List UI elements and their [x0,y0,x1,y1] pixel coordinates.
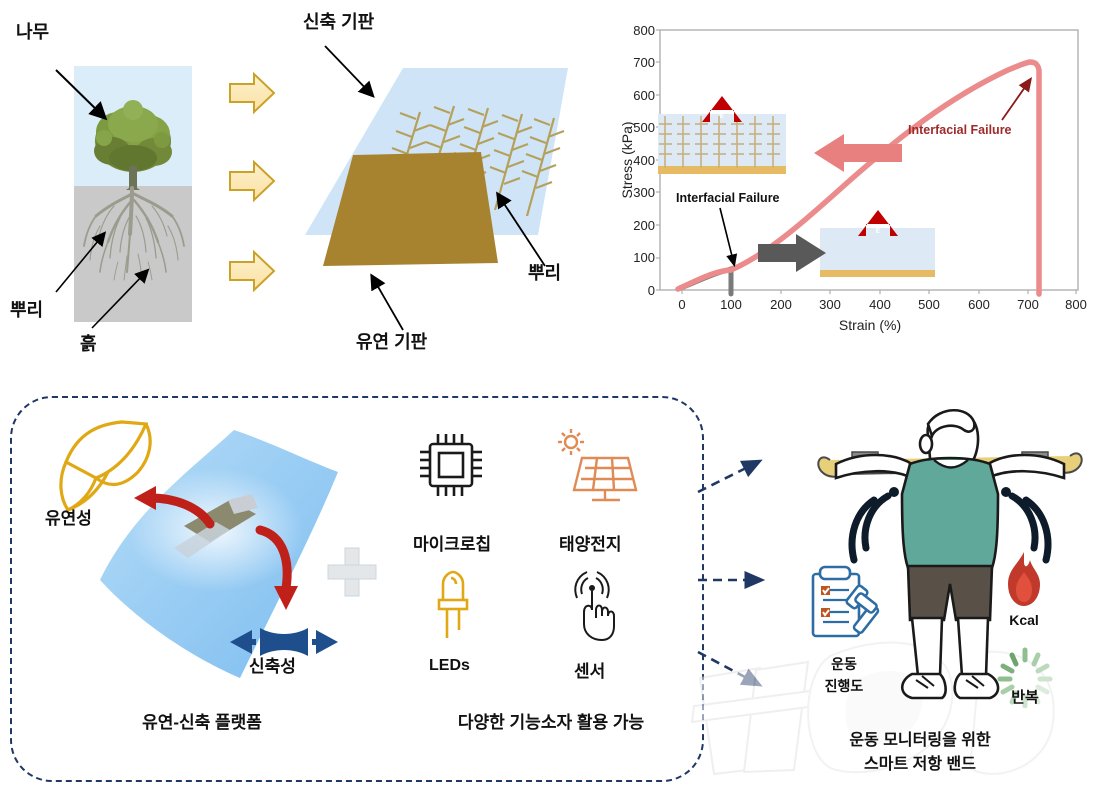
strain-symbol: ε [720,109,725,121]
label-kcal: Kcal [986,612,1062,628]
microchip-icon [418,432,484,498]
stretchable-substrate-figure [283,0,583,340]
svg-text:600: 600 [968,297,990,312]
label-flexibility: 유연성 [45,504,92,529]
strain-symbol: ε [876,224,881,236]
svg-text:200: 200 [633,218,655,233]
svg-text:100: 100 [633,250,655,265]
label-leds: LEDs [429,657,470,675]
flame-icon [1000,550,1048,612]
leader-soil [92,272,146,328]
shorts [908,566,992,620]
leader-root [56,235,103,292]
wireless-signal-icon [852,487,899,560]
svg-text:500: 500 [918,297,940,312]
label-stretchability: 신축성 [249,652,296,677]
x-axis-title: Strain (%) [839,317,901,333]
label-exercise-progress-line1: 운동 [800,654,888,674]
label-microchip: 마이크로칩 [413,530,491,555]
shirt [902,458,998,568]
leader-tree [56,70,103,116]
svg-text:300: 300 [819,297,841,312]
y-axis-title: Stress (kPa) [619,121,635,198]
svg-text:200: 200 [770,297,792,312]
plus-icon [326,546,378,598]
y-axis-ticks: 800 700 600 500 400 300 200 100 0 [633,23,655,298]
stress-strain-chart: 800 700 600 500 400 300 200 100 0 0 100 … [618,22,1088,342]
leader-stretchable [325,46,371,94]
svg-text:400: 400 [633,153,655,168]
right-arrow-icon [230,74,274,112]
annotation-interfacial-failure-planar: Interfacial Failure [676,191,780,205]
svg-text:100: 100 [720,297,742,312]
svg-text:0: 0 [648,283,655,298]
leader-flexible [373,278,403,330]
caption-smart-band-line2: 스마트 저항 밴드 [790,750,1050,774]
solar-panel-icon [552,428,638,508]
right-arrow-icon [230,252,274,290]
flexible-substrate [323,152,498,266]
caption-devices: 다양한 기능소자 활용 가능 [406,708,696,733]
process-arrows [228,72,290,322]
caption-smart-band-line1: 운동 모니터링을 위한 [790,726,1050,750]
label-exercise-progress-line2: 진행도 [800,676,888,696]
svg-text:500: 500 [633,120,655,135]
label-solar-cell: 태양전지 [559,530,622,555]
svg-text:800: 800 [1065,297,1087,312]
touch-sensor-icon [562,570,624,644]
annotation-interfacial-failure-root: Interfacial Failure [908,123,1012,137]
svg-text:800: 800 [633,23,655,38]
led-icon [431,570,475,642]
right-arrow-icon [230,162,274,200]
svg-text:600: 600 [633,88,655,103]
inset-substrate-layer [658,114,786,172]
dashed-arrow [698,462,758,492]
svg-text:0: 0 [678,297,685,312]
label-repeat: 반복 [987,686,1063,707]
svg-text:700: 700 [1017,297,1039,312]
inset-bottom-layer [658,166,786,174]
caption-platform: 유연-신축 플랫폼 [92,708,312,733]
platform-illustration [38,402,368,702]
svg-text:700: 700 [633,55,655,70]
svg-text:300: 300 [633,185,655,200]
inset-planar-bottom [820,270,935,277]
x-axis-ticks: 0 100 200 300 400 500 600 700 800 [678,297,1086,312]
shoes [902,674,998,698]
svg-text:400: 400 [869,297,891,312]
label-sensor: 센서 [574,657,605,682]
clipboard-checklist-icon [805,560,895,650]
